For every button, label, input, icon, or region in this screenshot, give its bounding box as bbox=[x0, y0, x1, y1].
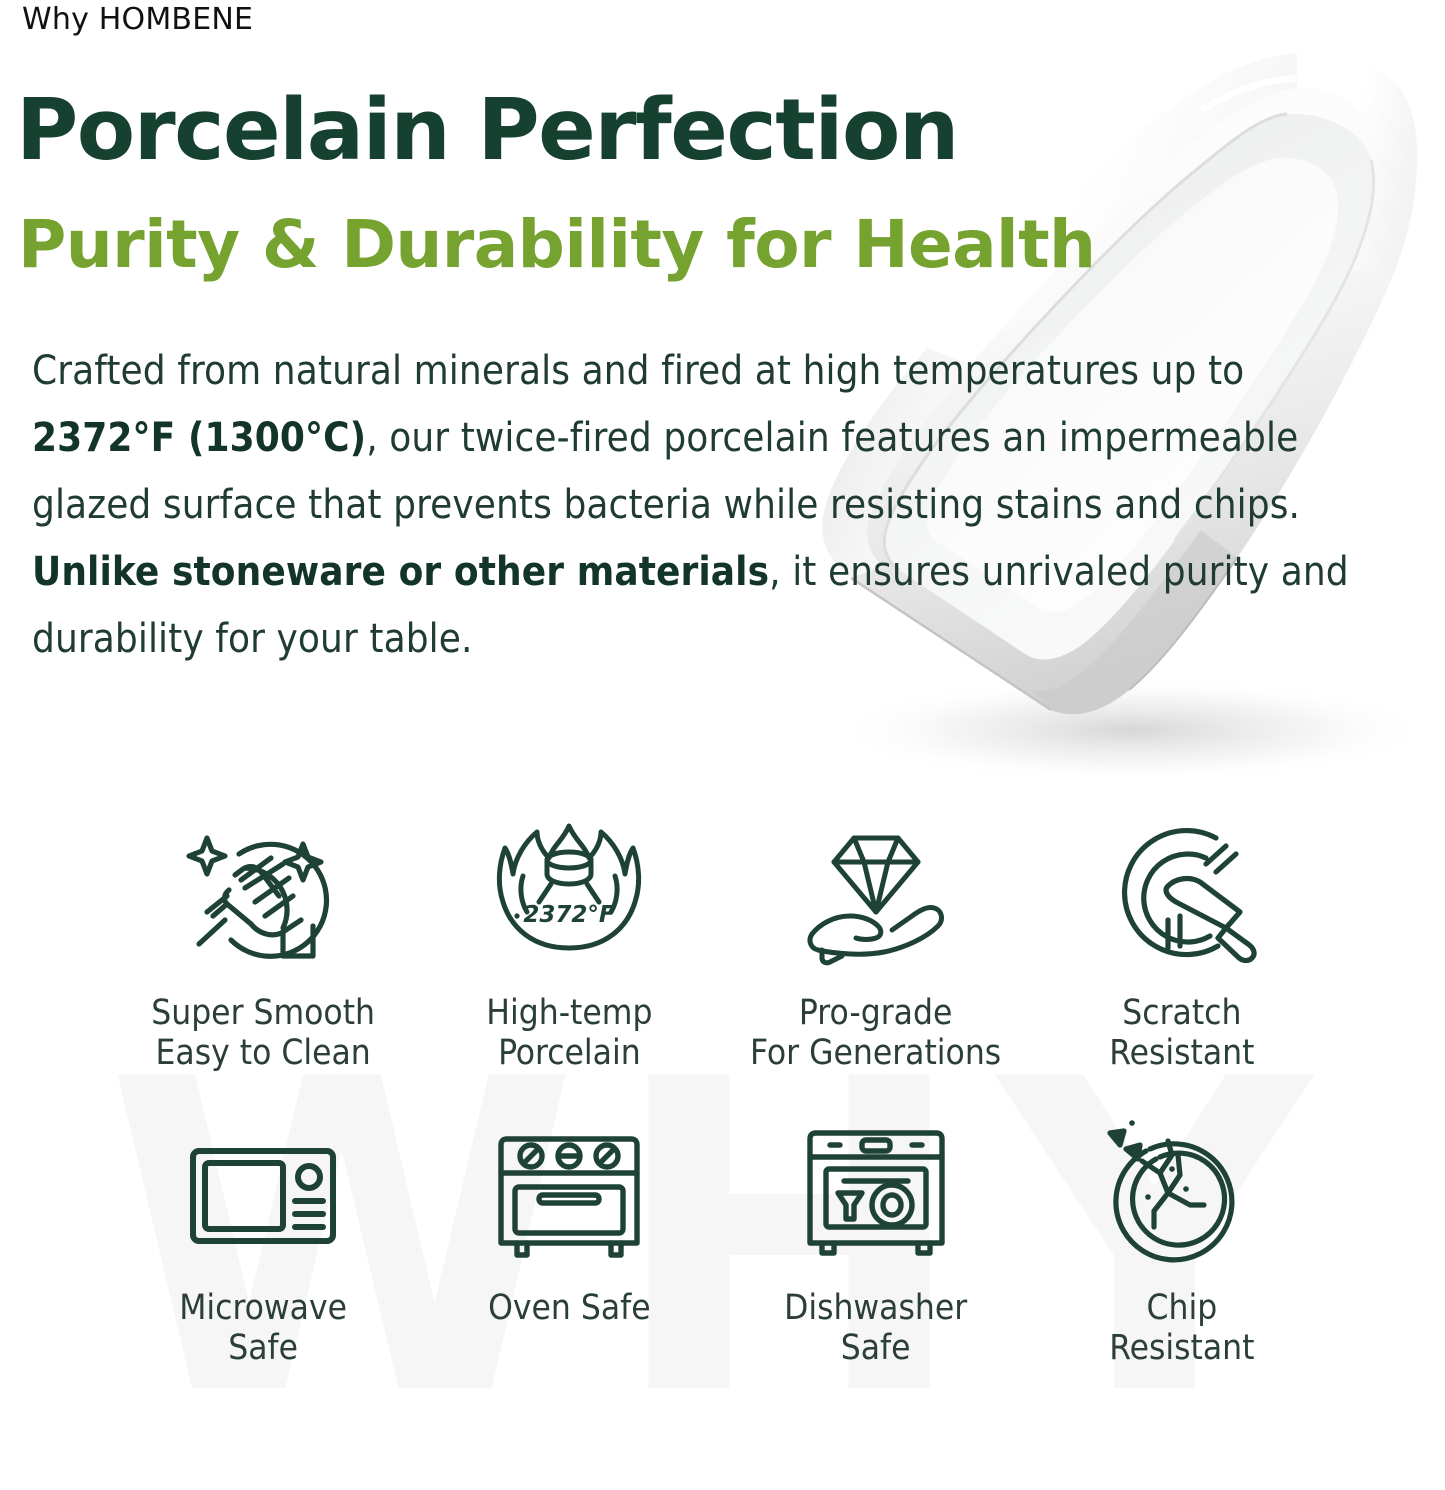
feature-item-high-temp: 2372°F High-temp Porcelain bbox=[416, 812, 722, 1107]
feature-label: Chip Resistant bbox=[1109, 1288, 1254, 1368]
feature-label: Scratch Resistant bbox=[1109, 993, 1254, 1073]
feature-label: Pro-grade For Generations bbox=[750, 993, 1001, 1073]
feature-grid: Super Smooth Easy to Clean 2372°F Hig bbox=[110, 812, 1335, 1402]
knife-over-plate-icon bbox=[1094, 812, 1269, 987]
brand-eyebrow: Why HOMBENE bbox=[22, 2, 253, 37]
feature-label: Microwave Safe bbox=[179, 1288, 347, 1368]
feature-label: Super Smooth Easy to Clean bbox=[151, 993, 375, 1073]
body-p2-lead: Unlike stoneware or other materials bbox=[32, 549, 769, 595]
microwave-icon bbox=[176, 1107, 351, 1282]
feature-label: High-temp Porcelain bbox=[486, 993, 652, 1073]
feature-item-scratch-resistant: Scratch Resistant bbox=[1029, 812, 1335, 1107]
page-subtitle: Purity & Durability for Health bbox=[18, 212, 1095, 278]
body-paragraph-2: Unlike stoneware or other materials, it … bbox=[32, 539, 1362, 673]
feature-item-chip-resistant: Chip Resistant bbox=[1029, 1107, 1335, 1402]
page-title: Porcelain Perfection bbox=[16, 88, 958, 173]
svg-text:2372°F: 2372°F bbox=[524, 902, 616, 928]
feature-item-microwave-safe: Microwave Safe bbox=[110, 1107, 416, 1402]
body-p1-temperature: 2372°F (1300°C) bbox=[32, 415, 366, 461]
dishwasher-icon bbox=[788, 1107, 963, 1282]
body-paragraph-1: Crafted from natural minerals and fired … bbox=[32, 338, 1362, 539]
feature-label: Dishwasher Safe bbox=[784, 1288, 967, 1368]
diamond-over-hand-icon bbox=[788, 812, 963, 987]
feature-label: Oven Safe bbox=[488, 1288, 651, 1328]
oven-icon bbox=[482, 1107, 657, 1282]
feature-item-super-smooth: Super Smooth Easy to Clean bbox=[110, 812, 416, 1107]
feature-item-pro-grade: Pro-grade For Generations bbox=[723, 812, 1029, 1107]
hand-wiping-plate-sparkle-icon bbox=[176, 812, 351, 987]
cracked-plate-chip-icon bbox=[1094, 1107, 1269, 1282]
body-p1-part1: Crafted from natural minerals and fired … bbox=[32, 348, 1244, 394]
body-copy: Crafted from natural minerals and fired … bbox=[32, 338, 1362, 673]
feature-item-dishwasher-safe: Dishwasher Safe bbox=[723, 1107, 1029, 1402]
flame-with-pot-icon: 2372°F bbox=[482, 812, 657, 987]
feature-item-oven-safe: Oven Safe bbox=[416, 1107, 722, 1402]
